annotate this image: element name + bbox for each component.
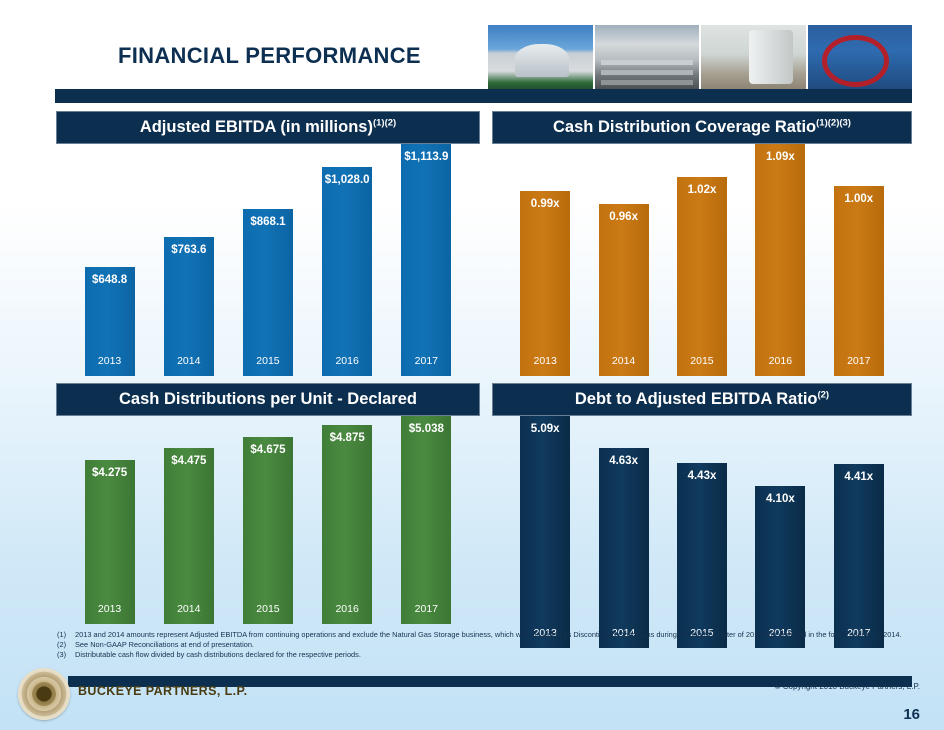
footnote-text: See Non-GAAP Reconciliations at end of p… [75,640,917,649]
plot-area-coverage-ratio: 0.99x20130.96x20141.02x20151.09x20161.00… [492,144,912,376]
bar-2013: 0.99x2013 [520,191,570,377]
chart-title-superscript: (1)(2) [373,118,396,129]
pipeline-facility-photo [595,25,700,89]
bar-2014: 4.63x2014 [599,448,649,648]
footnote-text: 2013 and 2014 amounts represent Adjusted… [75,630,917,639]
buckeye-logo-icon [18,668,70,720]
bar-2017: $5.0382017 [401,416,451,624]
facility-interior-photo [701,25,806,89]
bar-category-label: 2013 [534,355,557,367]
bar-group: $4.2752013$4.4752014$4.6752015$4.8752016… [56,416,480,624]
bar-value-label: $5.038 [409,423,444,435]
bar-value-label: $763.6 [171,244,206,256]
worker-valve-photo [808,25,913,89]
bar-category-label: 2013 [98,603,121,615]
bar-2016: $1,028.02016 [322,167,372,376]
bar-2014: $763.62014 [164,237,214,376]
bar-2016: $4.8752016 [322,425,372,624]
chart-title-adjusted-ebitda: Adjusted EBITDA (in millions)(1)(2) [56,111,480,144]
bar-2014: $4.4752014 [164,448,214,624]
bar-value-label: 1.00x [844,193,873,205]
bar-value-label: $4.275 [92,467,127,479]
bar-category-label: 2015 [690,355,713,367]
bar-value-label: 4.41x [844,471,873,483]
bar-2013: $648.82013 [85,267,135,376]
bar-category-label: 2014 [177,355,200,367]
chart-panel-adjusted-ebitda: Adjusted EBITDA (in millions)(1)(2) $648… [56,111,480,376]
header-divider [55,89,912,103]
plot-area-cash-distributions: $4.2752013$4.4752014$4.6752015$4.8752016… [56,416,480,624]
plot-area-debt-ratio: 5.09x20134.63x20144.43x20154.10x20164.41… [492,416,912,648]
page-number: 16 [903,706,920,723]
bar-value-label: 5.09x [531,423,560,435]
chart-title-coverage-ratio: Cash Distribution Coverage Ratio(1)(2)(3… [492,111,912,144]
chart-title-text: Adjusted EBITDA (in millions) [140,118,373,136]
footnote-row: (3)Distributable cash flow divided by ca… [57,650,917,659]
bar-group: 5.09x20134.63x20144.43x20154.10x20164.41… [492,416,912,648]
chart-title-debt-ratio: Debt to Adjusted EBITDA Ratio(2) [492,383,912,416]
footnote-row: (1)2013 and 2014 amounts represent Adjus… [57,630,917,639]
header-image-strip [488,25,912,89]
bar-category-label: 2016 [335,355,358,367]
chart-title-cash-distributions: Cash Distributions per Unit - Declared [56,383,480,416]
chart-title-text: Cash Distributions per Unit - Declared [119,390,417,408]
bar-value-label: $1,028.0 [325,174,370,186]
plot-area-adjusted-ebitda: $648.82013$763.62014$868.12015$1,028.020… [56,144,480,376]
chart-title-text: Debt to Adjusted EBITDA Ratio [575,390,818,408]
footnote-text: Distributable cash flow divided by cash … [75,650,917,659]
footnotes: (1)2013 and 2014 amounts represent Adjus… [57,630,917,660]
footnote-row: (2)See Non-GAAP Reconciliations at end o… [57,640,917,649]
bar-2017: $1,113.92017 [401,144,451,376]
company-name: BUCKEYE PARTNERS, L.P. [78,684,247,698]
footnote-marker: (2) [57,640,75,649]
bar-category-label: 2015 [256,603,279,615]
copyright-text: © Copyright 2018 Buckeye Partners, L.P. [775,682,920,691]
bar-2017: 1.00x2017 [834,186,884,376]
bar-category-label: 2017 [415,355,438,367]
bar-2015: 4.43x2015 [677,463,727,649]
bar-value-label: 1.02x [688,184,717,196]
bar-2015: 1.02x2015 [677,177,727,377]
bar-category-label: 2013 [98,355,121,367]
bar-2016: 1.09x2016 [755,144,805,376]
bar-value-label: 1.09x [766,151,795,163]
bar-2014: 0.96x2014 [599,204,649,376]
bar-2015: $868.12015 [243,209,293,376]
bar-value-label: 4.10x [766,493,795,505]
bar-value-label: $4.675 [250,444,285,456]
bar-group: 0.99x20130.96x20141.02x20151.09x20161.00… [492,144,912,376]
bar-value-label: 0.96x [609,211,638,223]
chart-title-text: Cash Distribution Coverage Ratio [553,118,816,136]
bar-value-label: $4.475 [171,455,206,467]
bar-category-label: 2016 [335,603,358,615]
chart-title-superscript: (1)(2)(3) [816,118,851,129]
footnote-marker: (3) [57,650,75,659]
bar-2016: 4.10x2016 [755,486,805,648]
footnote-marker: (1) [57,630,75,639]
bar-value-label: $868.1 [250,216,285,228]
bar-category-label: 2015 [256,355,279,367]
chart-panel-cash-distributions: Cash Distributions per Unit - Declared $… [56,383,480,624]
chart-panel-coverage-ratio: Cash Distribution Coverage Ratio(1)(2)(3… [492,111,912,376]
bar-value-label: 4.43x [688,470,717,482]
bar-category-label: 2014 [177,603,200,615]
bar-2013: $4.2752013 [85,460,135,624]
bar-value-label: $648.8 [92,274,127,286]
bar-value-label: 0.99x [531,198,560,210]
page-title: FINANCIAL PERFORMANCE [118,43,421,69]
bar-2013: 5.09x2013 [520,416,570,648]
bar-category-label: 2016 [769,355,792,367]
chart-panel-debt-ratio: Debt to Adjusted EBITDA Ratio(2) 5.09x20… [492,383,912,648]
bar-value-label: $1,113.9 [404,151,448,163]
chart-title-superscript: (2) [817,390,829,401]
bar-category-label: 2017 [847,355,870,367]
bar-2015: $4.6752015 [243,437,293,624]
bar-category-label: 2017 [415,603,438,615]
bar-value-label: $4.875 [330,432,365,444]
bar-2017: 4.41x2017 [834,464,884,648]
bar-group: $648.82013$763.62014$868.12015$1,028.020… [56,144,480,376]
bar-value-label: 4.63x [609,455,638,467]
bar-category-label: 2014 [612,355,635,367]
storage-tanks-photo [488,25,593,89]
